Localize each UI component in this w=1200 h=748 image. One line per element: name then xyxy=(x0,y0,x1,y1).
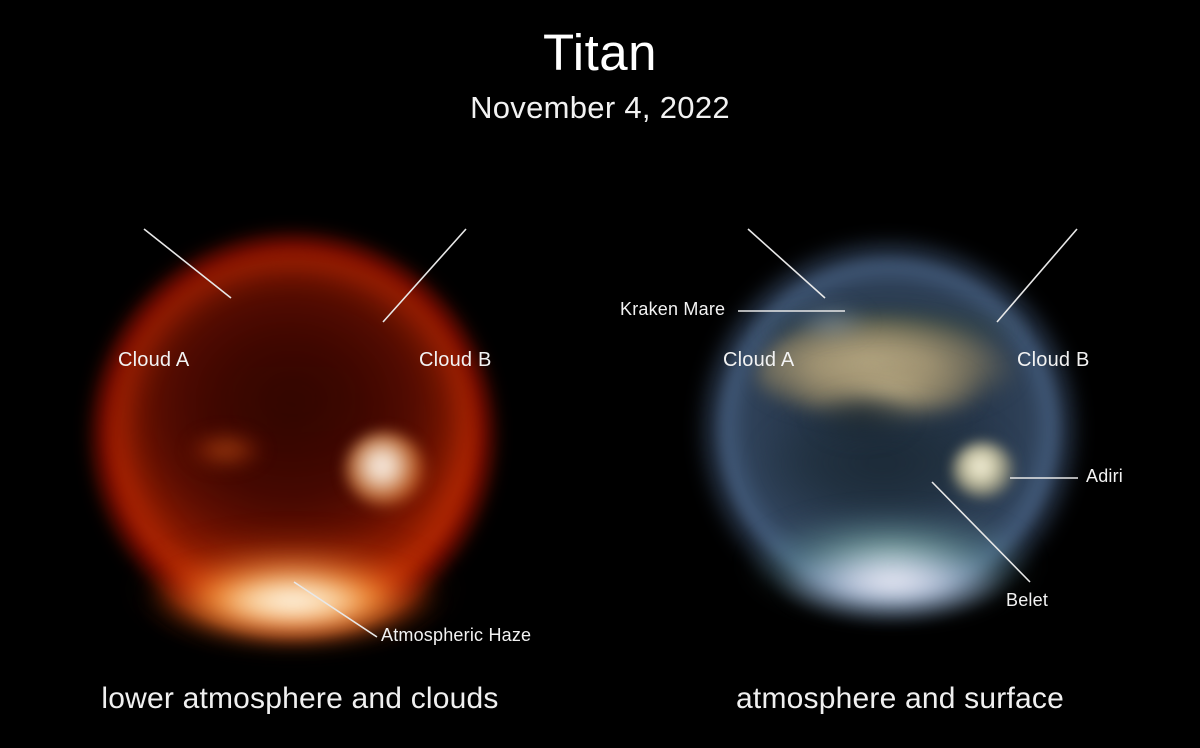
page-title: Titan xyxy=(0,26,1200,80)
label-adiri: Adiri xyxy=(1086,466,1123,487)
left-cloud-b-feature xyxy=(345,432,425,506)
caption-atmosphere-surface: atmosphere and surface xyxy=(600,682,1200,716)
panel-lower-atmosphere: Cloud A Cloud B Atmospheric Haze lower a… xyxy=(0,150,600,748)
observation-date: November 4, 2022 xyxy=(0,90,1200,126)
right-haze-bright-rim xyxy=(754,522,1032,626)
label-kraken-mare: Kraken Mare xyxy=(620,299,725,320)
caption-lower-atmosphere: lower atmosphere and clouds xyxy=(0,682,600,716)
label-cloud-b: Cloud B xyxy=(1017,349,1090,372)
label-cloud-a: Cloud A xyxy=(723,349,794,372)
right-cloud-a-feature xyxy=(786,300,876,344)
right-dark-mottle xyxy=(806,386,918,446)
panel-atmosphere-surface: Cloud A Cloud B Kraken Mare Adiri Belet … xyxy=(600,150,1200,748)
label-atmospheric-haze: Atmospheric Haze xyxy=(381,625,531,646)
label-belet: Belet xyxy=(1006,590,1048,611)
titan-comparison-figure: Titan November 4, 2022 Cloud A Cloud B A… xyxy=(0,0,1200,748)
left-cloud-a-feature xyxy=(180,428,272,472)
label-cloud-a: Cloud A xyxy=(118,349,189,372)
label-cloud-b: Cloud B xyxy=(419,349,492,372)
